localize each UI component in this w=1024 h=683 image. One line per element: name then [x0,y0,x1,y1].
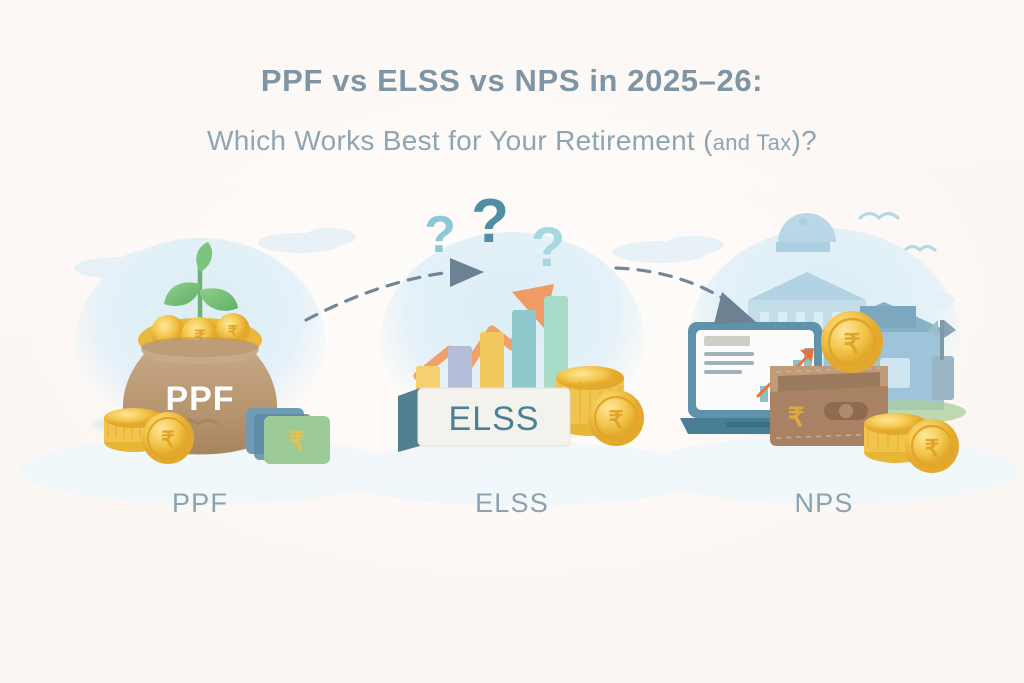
subtitle-part-small: and Tax [713,130,792,155]
coin-icon: ₹ [588,390,644,446]
panel-nps: ₹ ₹ ₹ [674,180,974,480]
rupee-symbol: ₹ [925,435,940,461]
illustration-scene: ₹ ₹ PPF [0,180,1024,500]
title-block: PPF vs ELSS vs NPS in 2025–26: Which Wor… [0,62,1024,158]
question-marks-group: ? ? ? [424,187,565,278]
bag-label: PPF [165,380,234,418]
page-subtitle: Which Works Best for Your Retirement (an… [0,123,1024,158]
question-mark-icon: ? [471,187,509,256]
question-mark-icon: ? [424,206,456,264]
card-label: ELSS [449,400,540,438]
subtitle-part-a: Which Works Best for Your Retirement ( [207,125,713,156]
rupee-symbol: ₹ [289,426,306,456]
caption-elss: ELSS [362,488,662,519]
cash-notes-icon: ₹ [246,408,330,464]
ppf-illustration: ₹ ₹ PPF [50,180,350,480]
rupee-symbol: ₹ [161,427,175,452]
subtitle-part-b: )? [792,125,818,156]
coin-icon: ₹ [142,412,194,464]
nps-illustration: ₹ ₹ ₹ [674,180,974,480]
elss-illustration: ? ? ? [362,180,662,480]
panel-elss: ? ? ? [362,180,662,480]
question-mark-icon: ? [531,215,565,278]
rupee-symbol: ₹ [843,329,860,359]
coin-icon: ₹ [905,419,959,473]
elss-card: ELSS [398,388,570,452]
caption-ppf: PPF [50,488,350,519]
coin-icon: ₹ [821,311,883,373]
flag-pole-icon [928,320,956,400]
rupee-symbol: ₹ [608,407,623,434]
page-title: PPF vs ELSS vs NPS in 2025–26: [0,62,1024,99]
infographic-banner: PPF vs ELSS vs NPS in 2025–26: Which Wor… [0,0,1024,683]
caption-nps: NPS [674,488,974,519]
panel-ppf: ₹ ₹ PPF [50,180,350,480]
rupee-symbol: ₹ [788,402,805,432]
